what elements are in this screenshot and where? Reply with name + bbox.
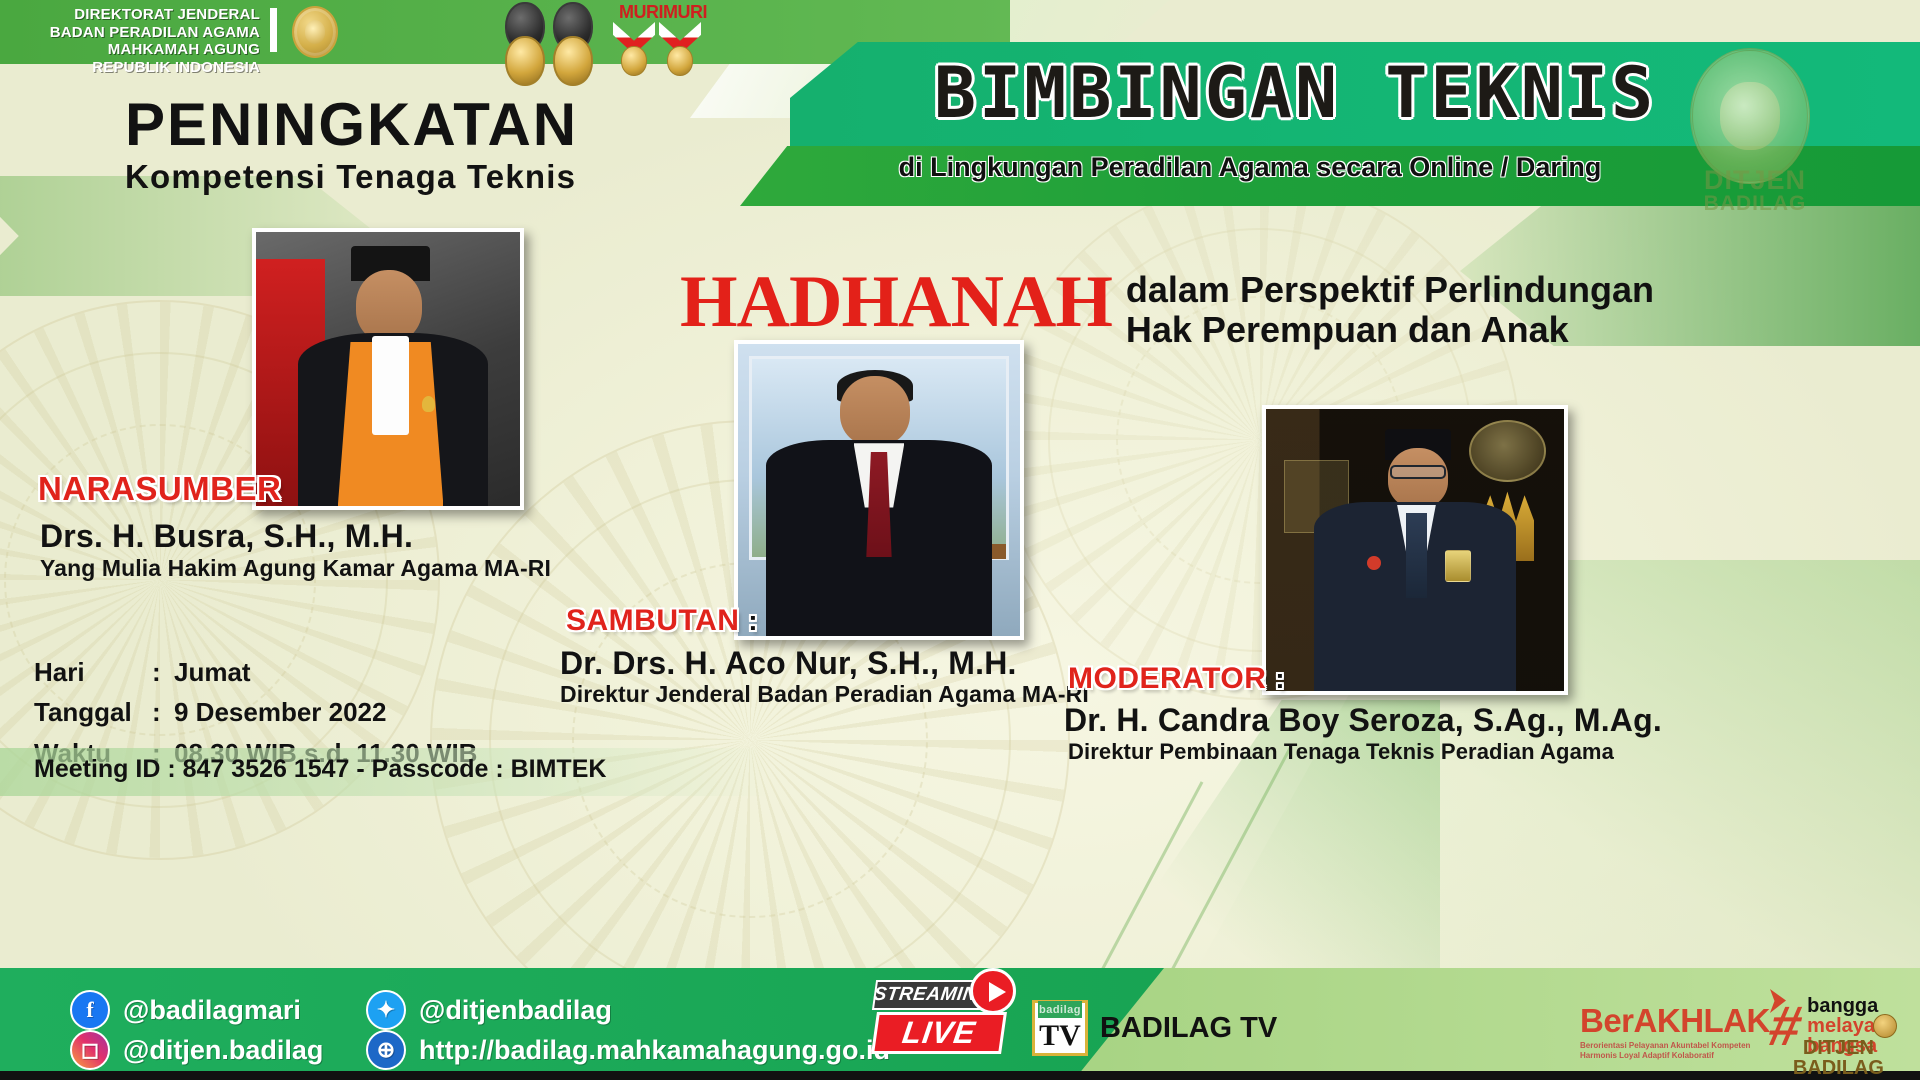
ditjen-label-line-2: BADILAG bbox=[1690, 194, 1820, 214]
muri-medal-icon-1 bbox=[621, 46, 647, 76]
role-text-narasumber: NARASUMBER bbox=[38, 470, 281, 507]
social-handle-website: http://badilag.mahkamahagung.go.id bbox=[419, 1035, 890, 1066]
topic-keyword: HADHANAH bbox=[680, 268, 1112, 336]
award-medal-icon-4 bbox=[553, 36, 593, 86]
social-instagram[interactable]: ◻ @ditjen.badilag bbox=[70, 1030, 323, 1070]
topic-headline: HADHANAH dalam Perspektif Perlindungan H… bbox=[680, 268, 1654, 351]
bangga-seal-icon bbox=[1873, 1014, 1897, 1038]
bangga-seal-label: DITJEN BADILAG bbox=[1770, 1038, 1907, 1078]
role-colon-sambutan: : bbox=[748, 605, 758, 636]
social-handle-facebook: @badilagmari bbox=[123, 995, 301, 1026]
bangga-melayani-bangsa-logo: # bangga melayani bangsa DITJEN BADILAG bbox=[1770, 996, 1893, 1056]
institution-block: DIREKTORAT JENDERAL BADAN PERADILAN AGAM… bbox=[30, 6, 260, 77]
bangga-word-1: bangga bbox=[1807, 996, 1893, 1016]
institution-line-3: MAHKAMAH AGUNG bbox=[30, 41, 260, 59]
badilag-tv-tag: badilag bbox=[1038, 1001, 1082, 1018]
role-label-sambutan: SAMBUTAN : bbox=[566, 604, 758, 638]
mahkamah-agung-seal-icon bbox=[292, 6, 338, 58]
schedule-key-tanggal: Tanggal bbox=[34, 692, 152, 732]
poster-canvas: DIREKTORAT JENDERAL BADAN PERADILAN AGAM… bbox=[0, 0, 1920, 1080]
institution-line-1: DIREKTORAT JENDERAL bbox=[30, 6, 260, 24]
speaker-photo-narasumber bbox=[252, 228, 524, 510]
schedule-value-tanggal: 9 Desember 2022 bbox=[174, 692, 594, 732]
institution-line-2: BADAN PERADILAN AGAMA bbox=[30, 24, 260, 42]
badilag-tv-block[interactable]: badilag TV BADILAG TV bbox=[1032, 1000, 1277, 1056]
footer-bottom-line bbox=[0, 1071, 1920, 1080]
awards-cluster: MURIMURI bbox=[505, 2, 695, 68]
role-text-sambutan: SAMBUTAN bbox=[566, 604, 739, 637]
berakhlak-title-text: BerAKHLAK bbox=[1580, 1002, 1770, 1039]
live-label: LIVE bbox=[871, 1012, 1007, 1054]
ditjen-badilag-label: DITJEN BADILAG bbox=[1690, 168, 1820, 214]
schedule-row-tanggal: Tanggal : 9 Desember 2022 bbox=[34, 692, 594, 732]
badilag-tv-mark: TV bbox=[1039, 1021, 1081, 1051]
social-facebook[interactable]: f @badilagmari bbox=[70, 990, 301, 1030]
muri-label: MURIMURI bbox=[619, 2, 707, 23]
event-subtitle: di Lingkungan Peradilan Agama secara Onl… bbox=[790, 152, 1710, 183]
badilag-tv-logo-icon: badilag TV bbox=[1032, 1000, 1088, 1056]
award-medal-icon-3 bbox=[505, 36, 545, 86]
person-title-sambutan: Direktur Jenderal Badan Peradian Agama M… bbox=[560, 681, 1089, 708]
social-twitter[interactable]: ✦ @ditjenbadilag bbox=[366, 990, 612, 1030]
event-title: BIMBINGAN TEKNIS bbox=[855, 52, 1735, 134]
globe-icon: ⊕ bbox=[366, 1030, 406, 1070]
schedule-sep-tanggal: : bbox=[152, 692, 174, 732]
schedule-value-hari: Jumat bbox=[174, 652, 594, 692]
berakhlak-logo: BerAKHLAK Berorientasi Pelayanan Akuntab… bbox=[1580, 1002, 1770, 1061]
facebook-icon: f bbox=[70, 990, 110, 1030]
ditjen-badilag-seal-icon bbox=[1690, 48, 1810, 184]
muri-medal-icon-2 bbox=[667, 46, 693, 76]
person-title-moderator: Direktur Pembinaan Tenaga Teknis Peradia… bbox=[1068, 739, 1614, 765]
topic-description-line-1: dalam Perspektif Perlindungan bbox=[1126, 270, 1654, 310]
person-name-moderator: Dr. H. Candra Boy Seroza, S.Ag., M.Ag. bbox=[1064, 702, 1662, 739]
role-label-narasumber: NARASUMBER bbox=[38, 470, 281, 508]
person-name-sambutan: Dr. Drs. H. Aco Nur, S.H., M.H. bbox=[560, 645, 1017, 682]
social-handle-instagram: @ditjen.badilag bbox=[123, 1035, 323, 1066]
role-label-moderator: MODERATOR : bbox=[1068, 662, 1285, 696]
person-name-narasumber: Drs. H. Busra, S.H., M.H. bbox=[40, 518, 413, 555]
streaming-live-badge[interactable]: STREAMING LIVE bbox=[874, 972, 1016, 1068]
twitter-icon: ✦ bbox=[366, 990, 406, 1030]
program-title-line-2: Kompetensi Tenaga Teknis bbox=[125, 158, 725, 196]
schedule-sep-hari: : bbox=[152, 652, 174, 692]
meeting-credentials: Meeting ID : 847 3526 1547 - Passcode : … bbox=[34, 755, 606, 784]
speaker-photo-sambutan bbox=[734, 340, 1024, 640]
person-title-narasumber: Yang Mulia Hakim Agung Kamar Agama MA-RI bbox=[40, 555, 551, 582]
schedule-key-hari: Hari bbox=[34, 652, 152, 692]
social-website[interactable]: ⊕ http://badilag.mahkamahagung.go.id bbox=[366, 1030, 890, 1070]
topic-description: dalam Perspektif Perlindungan Hak Peremp… bbox=[1126, 270, 1654, 351]
berakhlak-title: BerAKHLAK bbox=[1580, 1002, 1770, 1040]
ditjen-label-line-1: DITJEN bbox=[1690, 168, 1820, 194]
topic-description-line-2: Hak Perempuan dan Anak bbox=[1126, 310, 1654, 350]
play-icon bbox=[970, 968, 1016, 1014]
schedule-row-hari: Hari : Jumat bbox=[34, 652, 594, 692]
role-colon-moderator: : bbox=[1275, 663, 1285, 694]
social-handle-twitter: @ditjenbadilag bbox=[419, 995, 612, 1026]
instagram-icon: ◻ bbox=[70, 1030, 110, 1070]
muri-award-logo: MURIMURI bbox=[613, 2, 733, 68]
berakhlak-subtitle: Berorientasi Pelayanan Akuntabel Kompete… bbox=[1580, 1041, 1770, 1061]
role-text-moderator: MODERATOR bbox=[1068, 662, 1266, 695]
program-title-line-1: PENINGKATAN bbox=[125, 96, 725, 154]
program-title-block: PENINGKATAN Kompetensi Tenaga Teknis bbox=[125, 96, 725, 196]
divider-bar bbox=[270, 8, 277, 52]
speaker-photo-moderator bbox=[1262, 405, 1568, 695]
institution-line-4: REPUBLIK INDONESIA bbox=[30, 59, 260, 77]
badilag-tv-label: BADILAG TV bbox=[1100, 1012, 1277, 1045]
bangga-words: bangga melayani bangsa DITJEN BADILAG bbox=[1807, 996, 1893, 1056]
